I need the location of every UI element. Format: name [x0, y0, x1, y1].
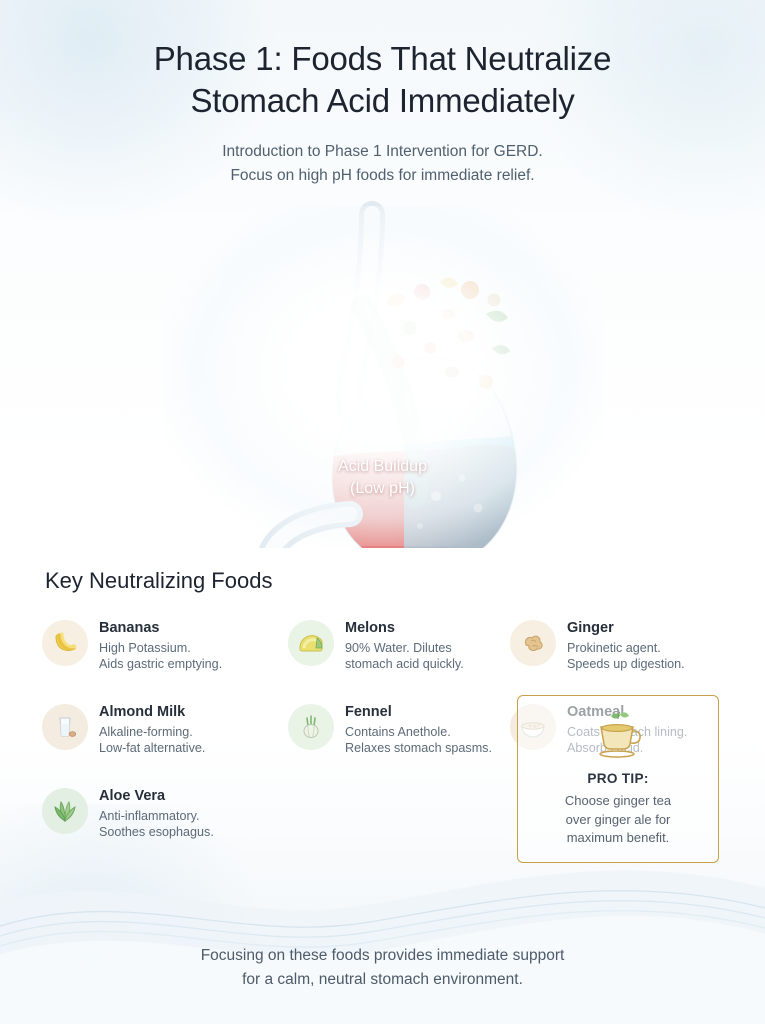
food-text-melons: Melons 90% Water. Dilutes stomach acid q…	[345, 618, 464, 673]
aloe-vera-icon	[42, 788, 88, 834]
food-item-fennel: Fennel Contains Anethole. Relaxes stomac…	[288, 696, 510, 780]
stomach-illustration: Acid Buildup (Low pH)	[0, 196, 765, 548]
footer-line-1: Focusing on these foods provides immedia…	[0, 944, 765, 968]
ginger-icon	[510, 620, 556, 666]
page-title-line-2: Stomach Acid Immediately	[73, 80, 693, 122]
section-title-key-foods: Key Neutralizing Foods	[45, 568, 272, 594]
food-desc-line-2: Relaxes stomach spasms.	[345, 740, 492, 756]
food-desc-line-2: Low-fat alternative.	[99, 740, 205, 756]
food-name: Fennel	[345, 703, 492, 721]
food-name: Bananas	[99, 619, 222, 637]
food-desc: High Potassium. Aids gastric emptying.	[99, 640, 222, 673]
food-desc: Alkaline-forming. Low-fat alternative.	[99, 724, 205, 757]
footer-text: Focusing on these foods provides immedia…	[0, 944, 765, 992]
food-name: Ginger	[567, 619, 685, 637]
food-name: Aloe Vera	[99, 787, 214, 805]
food-text-almond-milk: Almond Milk Alkaline-forming. Low-fat al…	[99, 702, 205, 757]
food-item-almond-milk: Almond Milk Alkaline-forming. Low-fat al…	[42, 696, 288, 780]
tea-cup-icon	[589, 710, 647, 760]
page-title: Phase 1: Foods That Neutralize Stomach A…	[73, 38, 693, 122]
acid-label-line-2: (Low pH)	[263, 478, 503, 500]
acid-buildup-label: Acid Buildup (Low pH)	[263, 456, 503, 500]
food-text-fennel: Fennel Contains Anethole. Relaxes stomac…	[345, 702, 492, 757]
food-desc: Prokinetic agent. Speeds up digestion.	[567, 640, 685, 673]
food-desc-line-1: Alkaline-forming.	[99, 724, 205, 740]
header: Phase 1: Foods That Neutralize Stomach A…	[0, 38, 765, 188]
food-text-bananas: Bananas High Potassium. Aids gastric emp…	[99, 618, 222, 673]
banana-icon	[42, 620, 88, 666]
food-desc-line-2: Speeds up digestion.	[567, 656, 685, 672]
melon-icon	[288, 620, 334, 666]
food-item-melons: Melons 90% Water. Dilutes stomach acid q…	[288, 612, 510, 696]
food-desc: 90% Water. Dilutes stomach acid quickly.	[345, 640, 464, 673]
page-title-line-1: Phase 1: Foods That Neutralize	[73, 38, 693, 80]
food-desc-line-1: 90% Water. Dilutes	[345, 640, 464, 656]
food-item-bananas: Bananas High Potassium. Aids gastric emp…	[42, 612, 288, 696]
pro-tip-text-line-2: over ginger ale for	[536, 811, 700, 830]
footer-line-2: for a calm, neutral stomach environment.	[0, 968, 765, 992]
food-desc: Contains Anethole. Relaxes stomach spasm…	[345, 724, 492, 757]
acid-label-line-1: Acid Buildup	[263, 456, 503, 478]
pro-tip-text-line-1: Choose ginger tea	[536, 792, 700, 811]
page-subtitle: Introduction to Phase 1 Intervention for…	[0, 140, 765, 188]
pro-tip-label: PRO TIP:	[518, 771, 718, 786]
food-item-ginger: Ginger Prokinetic agent. Speeds up diges…	[510, 612, 728, 696]
food-text-ginger: Ginger Prokinetic agent. Speeds up diges…	[567, 618, 685, 673]
food-desc-line-1: Prokinetic agent.	[567, 640, 685, 656]
fennel-icon	[288, 704, 334, 750]
food-name: Almond Milk	[99, 703, 205, 721]
food-desc-line-1: Anti-inflammatory.	[99, 808, 214, 824]
footer-wave-decoration	[0, 834, 765, 1024]
food-text-aloe-vera: Aloe Vera Anti-inflammatory. Soothes eso…	[99, 786, 214, 841]
food-desc-line-1: Contains Anethole.	[345, 724, 492, 740]
food-desc-line-2: Aids gastric emptying.	[99, 656, 222, 672]
food-desc-line-2: stomach acid quickly.	[345, 656, 464, 672]
infographic-page: Phase 1: Foods That Neutralize Stomach A…	[0, 0, 765, 1024]
milk-glass-icon	[42, 704, 88, 750]
page-subtitle-line-2: Focus on high pH foods for immediate rel…	[0, 164, 765, 188]
food-name: Melons	[345, 619, 464, 637]
page-subtitle-line-1: Introduction to Phase 1 Intervention for…	[0, 140, 765, 164]
food-desc-line-1: High Potassium.	[99, 640, 222, 656]
